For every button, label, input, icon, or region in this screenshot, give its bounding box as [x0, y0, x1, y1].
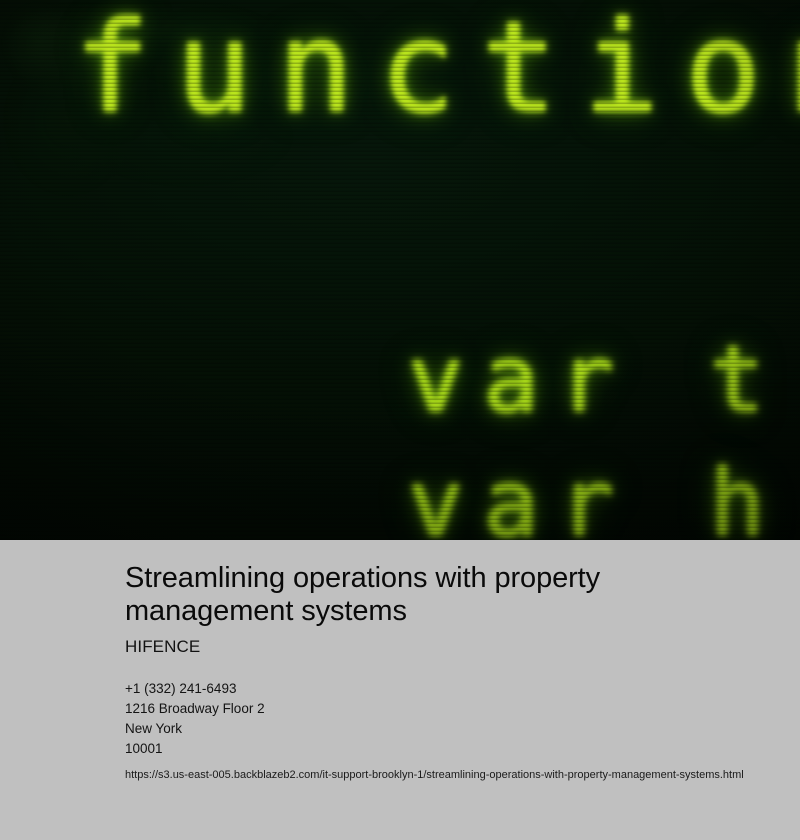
info-panel: Streamlining operations with property ma…: [0, 540, 800, 840]
contact-city: New York: [125, 719, 776, 739]
hero-image: function var t var h: [0, 0, 800, 540]
hero-code-line-3: var h: [408, 450, 785, 540]
contact-street: 1216 Broadway Floor 2: [125, 699, 776, 719]
hero-code-line-2: var t: [408, 326, 785, 433]
page-root: function var t var h Streamlining operat…: [0, 0, 800, 840]
contact-phone: +1 (332) 241-6493: [125, 679, 776, 699]
hero-code-line-1: function: [74, 0, 800, 141]
info-content: Streamlining operations with property ma…: [125, 562, 776, 783]
brand-name: HIFENCE: [125, 636, 776, 657]
contact-details: +1 (332) 241-6493 1216 Broadway Floor 2 …: [125, 679, 776, 759]
page-title: Streamlining operations with property ma…: [125, 562, 695, 628]
source-url[interactable]: https://s3.us-east-005.backblazeb2.com/i…: [125, 768, 776, 783]
contact-zip: 10001: [125, 739, 776, 759]
